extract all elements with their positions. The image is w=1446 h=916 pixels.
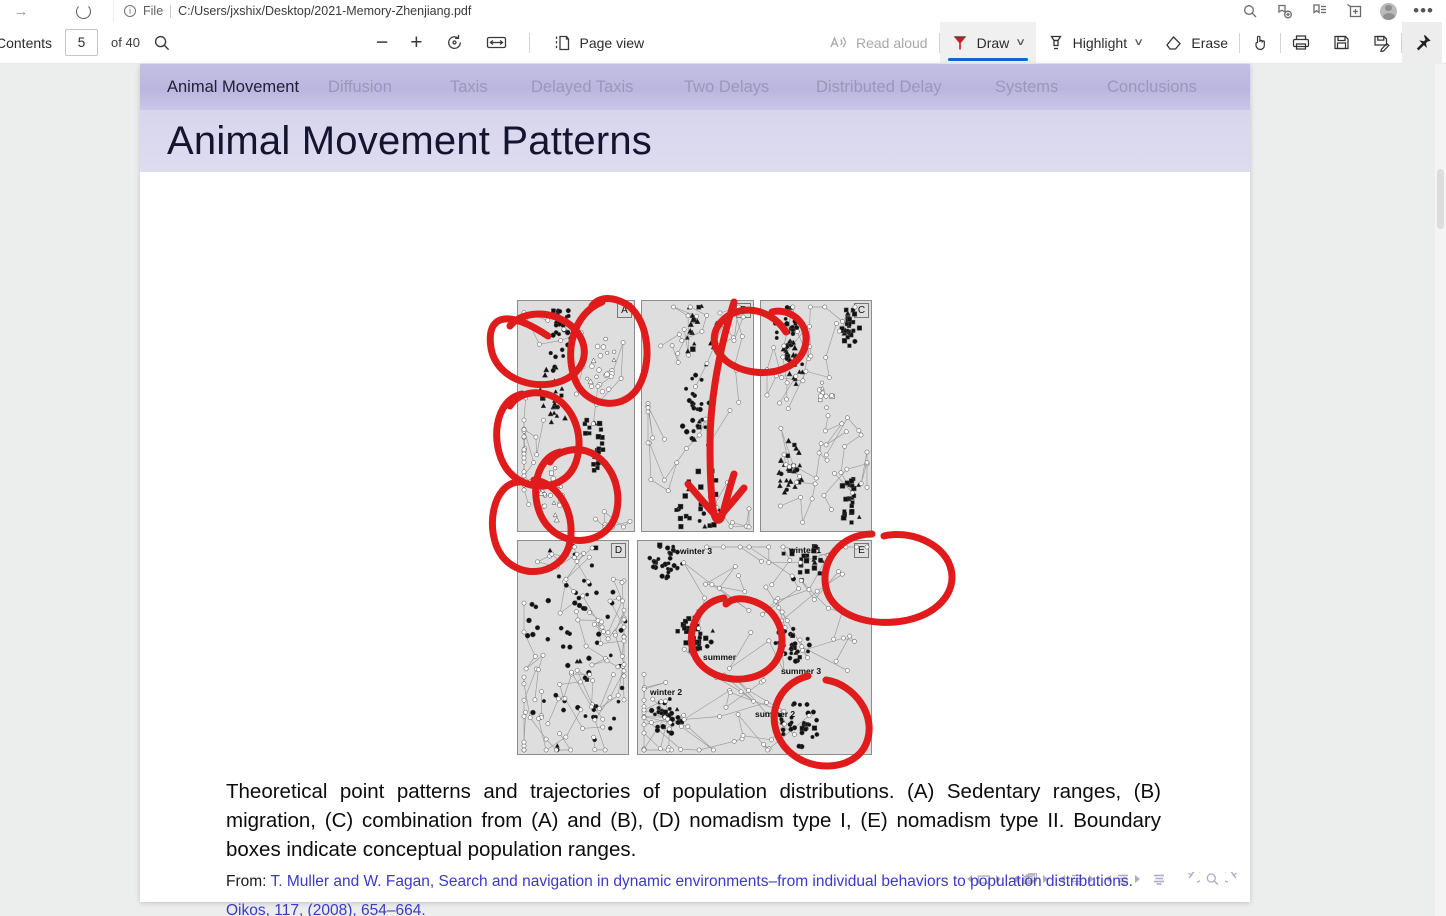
- fit-to-width-icon[interactable]: [486, 34, 507, 51]
- contents-button[interactable]: Contents: [0, 35, 52, 51]
- touch-hand-button[interactable]: [1240, 22, 1280, 64]
- add-tab-icon[interactable]: [1345, 2, 1364, 21]
- highlight-label: Highlight: [1073, 35, 1127, 51]
- highlight-button[interactable]: Highlight ∨: [1036, 22, 1154, 64]
- erase-label: Erase: [1191, 35, 1228, 51]
- pdf-toolbar: Contents 5 of 40 − + Page view: [0, 22, 1446, 64]
- favorites-icon[interactable]: [1310, 2, 1329, 21]
- slide-content: ABCDEwinter 3winter 1summersummer 3winte…: [140, 172, 1250, 902]
- forward-arrow-icon[interactable]: →: [8, 3, 34, 20]
- slide-icon: [977, 874, 991, 885]
- caption-source-prefix: From:: [226, 873, 266, 890]
- scrollbar-thumb[interactable]: [1437, 169, 1444, 229]
- zoom-in-button[interactable]: +: [410, 36, 422, 50]
- slide-nav-group[interactable]: [967, 874, 1001, 885]
- season-label-winter-2: winter 2: [650, 687, 682, 697]
- chevron-down-icon-2[interactable]: ∨: [1133, 37, 1144, 48]
- slide-title-band: Animal Movement Patterns: [140, 110, 1250, 172]
- prev-subsection-icon[interactable]: [1060, 875, 1065, 883]
- read-aloud-button[interactable]: Read aloud: [818, 22, 939, 64]
- draw-label: Draw: [977, 35, 1010, 51]
- presentation-nav-group[interactable]: [1152, 873, 1166, 886]
- season-label-summer: summer: [703, 652, 736, 662]
- panel-plot-e: [638, 541, 873, 756]
- toolbar-divider: [529, 33, 530, 53]
- omnibox[interactable]: i File C:/Users/jxshix/Desktop/2021-Memo…: [113, 0, 481, 22]
- subsection-nav-group[interactable]: [1060, 873, 1094, 886]
- page-total-label: of 40: [111, 35, 140, 50]
- season-label-winter-1: winter 1: [789, 545, 821, 555]
- nav-tab-systems[interactable]: Systems: [995, 78, 1058, 97]
- beamer-footer-nav: [967, 872, 1241, 886]
- edge-pdf-viewer-window: → i File C:/Users/jxshix/Desktop/2021-Me…: [0, 0, 1446, 916]
- figure-panel-e: E: [637, 540, 872, 755]
- nav-tab-taxis[interactable]: Taxis: [450, 78, 488, 97]
- browser-address-bar: → i File C:/Users/jxshix/Desktop/2021-Me…: [0, 0, 1446, 22]
- next-subsection-icon[interactable]: [1089, 875, 1094, 883]
- frames-icon: [1023, 873, 1038, 886]
- collections-add-icon[interactable]: [1275, 2, 1294, 21]
- figure-panel-a: A: [517, 300, 635, 532]
- back-icon[interactable]: [1184, 872, 1200, 886]
- url-text: C:/Users/jxshix/Desktop/2021-Memory-Zhen…: [178, 4, 471, 18]
- population-distribution-figure: ABCDEwinter 3winter 1summersummer 3winte…: [517, 300, 872, 755]
- nav-tab-conclusions[interactable]: Conclusions: [1107, 78, 1197, 97]
- figure-panel-d: D: [517, 540, 629, 755]
- toc-icon: [1152, 873, 1166, 886]
- reload-icon[interactable]: [76, 4, 91, 19]
- more-options-icon[interactable]: •••: [1413, 6, 1434, 16]
- section-icon: [1116, 873, 1130, 886]
- page-view-icon: [552, 34, 571, 52]
- save-button[interactable]: [1321, 22, 1361, 64]
- history-nav-group[interactable]: [1184, 872, 1241, 886]
- season-label-winter-3: winter 3: [680, 546, 712, 556]
- figure-caption: Theoretical point patterns and trajector…: [226, 777, 1161, 916]
- forward-icon[interactable]: [1225, 872, 1241, 886]
- figure-panel-c: C: [760, 300, 872, 532]
- chevron-down-icon[interactable]: ∨: [1015, 37, 1026, 48]
- page-title: Animal Movement Patterns: [167, 119, 652, 164]
- panel-plot-d: [518, 541, 630, 756]
- read-aloud-icon: [829, 34, 848, 51]
- season-label-summer-2: summer 2: [755, 709, 795, 719]
- zoom-out-button[interactable]: −: [376, 36, 388, 50]
- page-number-input[interactable]: 5: [65, 29, 98, 56]
- pen-icon: [951, 34, 969, 52]
- panel-plot-a: [518, 301, 636, 533]
- prev-frame-icon[interactable]: [1013, 875, 1018, 883]
- pdf-viewer-area: Animal MovementDiffusionTaxisDelayed Tax…: [0, 64, 1446, 916]
- highlighter-icon: [1047, 34, 1065, 52]
- page-view-button[interactable]: Page view: [552, 34, 645, 52]
- profile-avatar[interactable]: [1380, 3, 1397, 20]
- next-section-icon[interactable]: [1135, 875, 1140, 883]
- panel-plot-c: [761, 301, 873, 533]
- nav-tab-diffusion[interactable]: Diffusion: [328, 78, 392, 97]
- site-info-icon[interactable]: i: [124, 5, 136, 17]
- zoom-icon[interactable]: [1240, 2, 1259, 21]
- read-aloud-label: Read aloud: [856, 35, 928, 51]
- file-label: File: [143, 4, 163, 18]
- search-again-icon[interactable]: [1205, 872, 1220, 886]
- draw-button[interactable]: Draw ∨: [940, 22, 1036, 64]
- season-label-summer-3: summer 3: [781, 666, 821, 676]
- beamer-navigation-bar: Animal MovementDiffusionTaxisDelayed Tax…: [140, 64, 1250, 110]
- pdf-page: Animal MovementDiffusionTaxisDelayed Tax…: [140, 64, 1250, 902]
- search-icon[interactable]: [153, 34, 171, 52]
- omnibox-divider: [170, 5, 171, 18]
- nav-tab-two-delays[interactable]: Two Delays: [684, 78, 769, 97]
- section-nav-group[interactable]: [1106, 873, 1140, 886]
- next-slide-icon[interactable]: [996, 875, 1001, 883]
- erase-button[interactable]: Erase: [1153, 22, 1239, 64]
- panel-plot-b: [642, 301, 755, 533]
- subsection-icon: [1070, 873, 1084, 886]
- save-as-button[interactable]: [1361, 22, 1401, 64]
- pdf-toolbar-center: − + Page view: [376, 33, 644, 53]
- browser-toolbar-right: •••: [1240, 2, 1446, 21]
- nav-tab-animal-movement[interactable]: Animal Movement: [167, 78, 299, 97]
- vertical-scrollbar[interactable]: [1435, 64, 1446, 916]
- caption-main-text: Theoretical point patterns and trajector…: [226, 777, 1161, 864]
- prev-slide-icon[interactable]: [967, 875, 972, 883]
- print-button[interactable]: [1281, 22, 1321, 64]
- nav-tab-distributed-delay[interactable]: Distributed Delay: [816, 78, 942, 97]
- rotate-icon[interactable]: [445, 33, 464, 52]
- pdf-toolbar-right: Read aloud Draw ∨ Highlight ∨: [818, 22, 1446, 64]
- pdf-toolbar-left: Contents 5 of 40: [0, 29, 171, 56]
- prev-section-icon[interactable]: [1106, 875, 1111, 883]
- nav-tab-delayed-taxis[interactable]: Delayed Taxis: [531, 78, 633, 97]
- figure-panel-b: B: [641, 300, 754, 532]
- next-frame-icon[interactable]: [1043, 875, 1048, 883]
- frame-nav-group[interactable]: [1013, 873, 1048, 886]
- page-view-label: Page view: [580, 35, 645, 51]
- pin-button[interactable]: [1402, 22, 1442, 64]
- eraser-icon: [1164, 34, 1183, 52]
